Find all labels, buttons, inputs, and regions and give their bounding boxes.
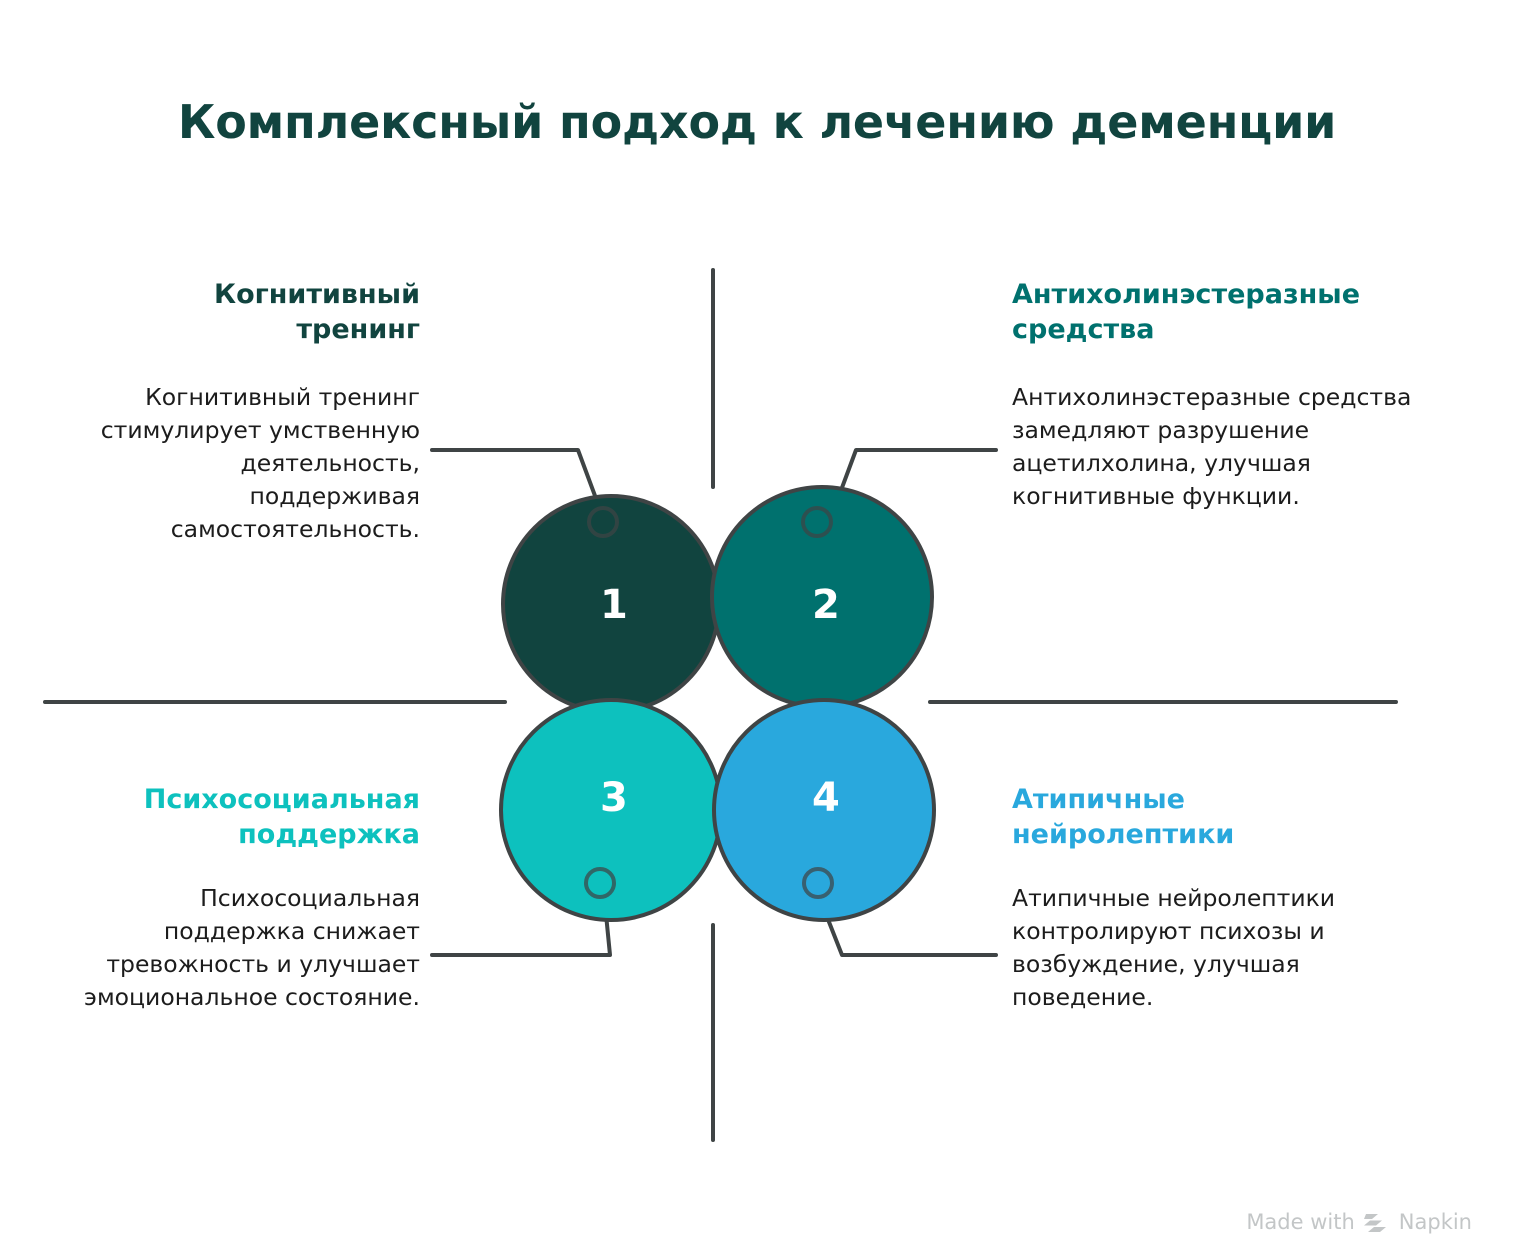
quadrant-anticholinesterase-agents: Антихолинэстеразные средства Антихолинэс… — [1012, 277, 1452, 513]
page-title: Комплексный подход к лечению деменции — [0, 95, 1514, 149]
quadrant-3-body: Психосоциальная поддержка снижает тревож… — [68, 882, 420, 1014]
connector-rings — [586, 508, 832, 897]
circle-number-1: 1 — [600, 582, 628, 628]
leader-lines — [432, 450, 996, 955]
quadrant-atypical-antipsychotics: Атипичные нейролептики Атипичные нейроле… — [1012, 782, 1412, 1014]
connector-ring-3 — [586, 869, 614, 897]
circle-number-3: 3 — [600, 775, 628, 821]
venn-circle-3[interactable] — [501, 700, 721, 920]
napkin-watermark[interactable]: Made with Napkin — [1246, 1210, 1472, 1234]
circle-number-2: 2 — [812, 582, 840, 628]
quadrant-2-heading: Антихолинэстеразные средства — [1012, 277, 1452, 347]
leader-line-1 — [432, 450, 604, 520]
quadrant-1-body: Когнитивный тренинг стимулирует умственн… — [88, 381, 420, 545]
venn-circle-4[interactable] — [714, 700, 934, 920]
watermark-made-with-label: Made with — [1246, 1210, 1354, 1234]
leader-line-4 — [818, 894, 996, 955]
circle-number-4: 4 — [812, 775, 840, 821]
quadrant-cognitive-training: Когнитивный тренинг Когнитивный тренинг … — [88, 277, 420, 546]
leader-line-2 — [830, 450, 996, 520]
infographic-canvas: Комплексный подход к лечению деменции — [0, 0, 1514, 1256]
connector-ring-2 — [803, 508, 831, 536]
quadrant-psychosocial-support: Психосоциальная поддержка Психосоциальна… — [68, 782, 420, 1014]
quadrant-4-heading: Атипичные нейролептики — [1012, 782, 1412, 852]
venn-circles — [501, 487, 934, 920]
napkin-stripes-icon — [1364, 1211, 1390, 1233]
leader-line-3 — [432, 894, 610, 955]
quadrant-4-body: Атипичные нейролептики контролируют псих… — [1012, 882, 1412, 1014]
watermark-brand-label: Napkin — [1399, 1210, 1472, 1234]
connector-ring-1 — [589, 508, 617, 536]
venn-circle-2[interactable] — [712, 487, 932, 707]
quadrant-1-heading: Когнитивный тренинг — [88, 277, 420, 347]
quadrant-3-heading: Психосоциальная поддержка — [68, 782, 420, 852]
venn-diagram — [0, 0, 1514, 1256]
quadrant-2-body: Антихолинэстеразные средства замедляют р… — [1012, 381, 1452, 513]
connector-ring-4 — [804, 869, 832, 897]
venn-circle-1[interactable] — [503, 496, 719, 712]
